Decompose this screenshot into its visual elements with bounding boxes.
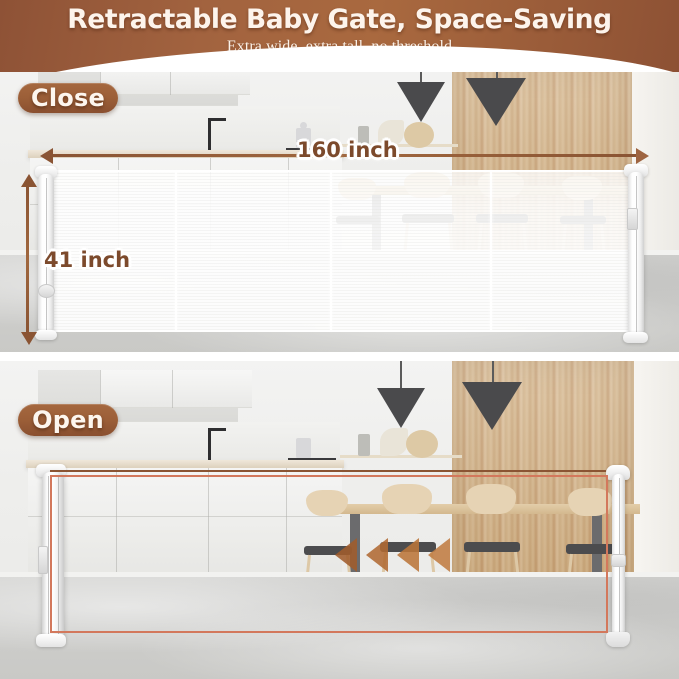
cabinet-seam	[172, 370, 173, 408]
pendant-lamp-right	[466, 78, 526, 126]
pendant-lamp-left	[377, 388, 425, 428]
height-arrow-line	[26, 185, 29, 333]
decor-bowl	[404, 122, 434, 148]
gate-right-latch	[627, 208, 638, 230]
room-scene-closed: 160 inch 41 inch Close	[0, 58, 679, 354]
moka-pot-lid	[300, 122, 307, 129]
faucet-spout	[208, 428, 226, 431]
decor-vase	[358, 434, 370, 456]
gate-right-post-foot	[623, 332, 648, 343]
gate-mesh-divider	[330, 172, 332, 330]
panel-closed-state: 160 inch 41 inch Close	[0, 58, 679, 354]
gate-mesh-divider	[175, 172, 177, 330]
gate-right-latch	[611, 554, 626, 567]
gate-post-seam	[636, 176, 637, 332]
status-badge-close-label: Close	[31, 84, 105, 112]
status-badge-open-label: Open	[32, 406, 104, 434]
retract-direction-chevron	[335, 538, 357, 572]
moka-pot	[296, 438, 311, 460]
retracted-span-top-line	[50, 470, 606, 472]
height-dimension-label: 41 inch	[44, 248, 130, 272]
retract-direction-chevron	[397, 538, 419, 572]
panel-open-state: Open	[0, 360, 679, 679]
page-title: Retractable Baby Gate, Space-Saving	[0, 4, 679, 35]
decor-bowl	[406, 430, 438, 458]
wall-shelf	[338, 455, 462, 458]
height-arrow-head-bottom	[21, 332, 37, 345]
header-banner: Retractable Baby Gate, Space-Saving Extr…	[0, 0, 679, 72]
width-arrow-head-right	[636, 148, 649, 164]
gate-mesh-closed	[42, 170, 638, 332]
gate-left-latch	[38, 284, 55, 298]
pendant-lamp-cord	[492, 360, 494, 384]
room-scene-open: Open	[0, 360, 679, 679]
retract-direction-chevron	[366, 538, 388, 572]
gate-housing-seam	[48, 476, 49, 636]
panel-divider	[0, 352, 679, 361]
height-arrow-head-top	[21, 174, 37, 187]
pendant-lamp-cord	[400, 360, 402, 390]
kitchen-countertop	[26, 460, 344, 468]
kitchen-faucet	[208, 428, 211, 460]
retracted-span-outline	[50, 475, 608, 633]
decor-plant	[380, 428, 408, 456]
product-infographic: Retractable Baby Gate, Space-Saving Extr…	[0, 0, 679, 679]
gate-right-mount-foot	[606, 632, 630, 647]
gate-left-post-foot	[35, 330, 57, 340]
gate-mesh-divider	[490, 172, 492, 330]
retract-direction-chevron	[428, 538, 450, 572]
gate-left-post-foot	[36, 634, 66, 647]
width-dimension-label: 160 inch	[297, 138, 398, 162]
status-badge-open: Open	[18, 404, 118, 436]
pendant-lamp-right	[462, 382, 522, 430]
gate-retract-latch	[38, 546, 48, 574]
kitchen-faucet	[208, 118, 211, 150]
status-badge-close: Close	[18, 83, 118, 113]
upper-cabinet-extension	[100, 370, 252, 408]
pendant-lamp-left	[397, 82, 445, 122]
faucet-spout	[208, 118, 226, 121]
